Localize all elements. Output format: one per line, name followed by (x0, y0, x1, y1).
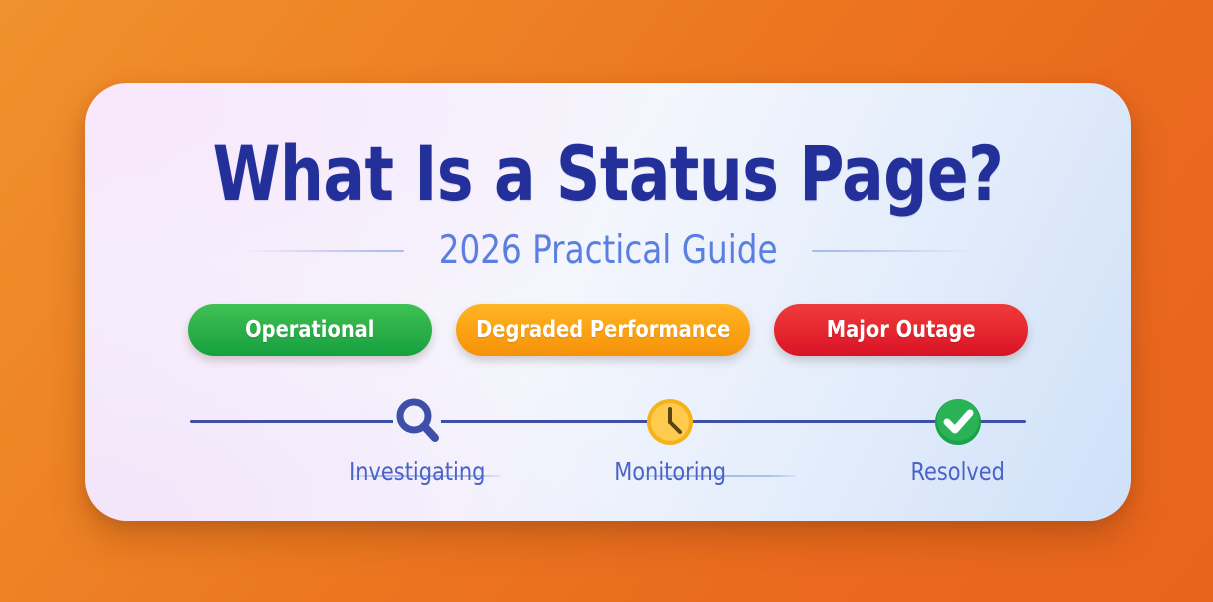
status-badge-degraded[interactable]: Degraded Performance (456, 304, 750, 356)
timeline-step-label: Monitoring (614, 459, 726, 484)
clock-icon (640, 389, 700, 453)
status-badge-outage[interactable]: Major Outage (774, 304, 1028, 356)
status-badge-label: Degraded Performance (476, 317, 730, 343)
infographic-stage: What Is a Status Page? 2026 Practical Gu… (0, 0, 1213, 602)
status-badge-operational[interactable]: Operational (188, 304, 432, 356)
timeline-step-investigating[interactable]: Investigating (347, 389, 487, 484)
timeline-step-resolved[interactable]: Resolved (888, 389, 1028, 484)
subtitle-rule-left (242, 250, 404, 252)
magnifier-icon-svg (387, 391, 447, 451)
subtitle-rule-right (812, 250, 974, 252)
status-badge-group: Operational Degraded Performance Major O… (85, 304, 1131, 356)
clock-icon-svg (640, 391, 700, 451)
status-badge-label: Major Outage (827, 317, 976, 343)
status-page-card: What Is a Status Page? 2026 Practical Gu… (85, 83, 1131, 521)
timeline-step-monitoring[interactable]: Monitoring (600, 389, 740, 484)
subtitle-row: 2026 Practical Guide (85, 231, 1131, 270)
page-subtitle: 2026 Practical Guide (439, 231, 778, 270)
check-circle-icon-svg (928, 391, 988, 451)
magnifier-icon (387, 389, 447, 453)
incident-timeline: Investigating Monitoring (190, 389, 1026, 494)
timeline-step-label: Investigating (349, 459, 485, 484)
status-badge-label: Operational (245, 317, 374, 343)
check-circle-icon (928, 389, 988, 453)
page-title: What Is a Status Page? (137, 136, 1078, 212)
timeline-step-label: Resolved (911, 459, 1005, 484)
